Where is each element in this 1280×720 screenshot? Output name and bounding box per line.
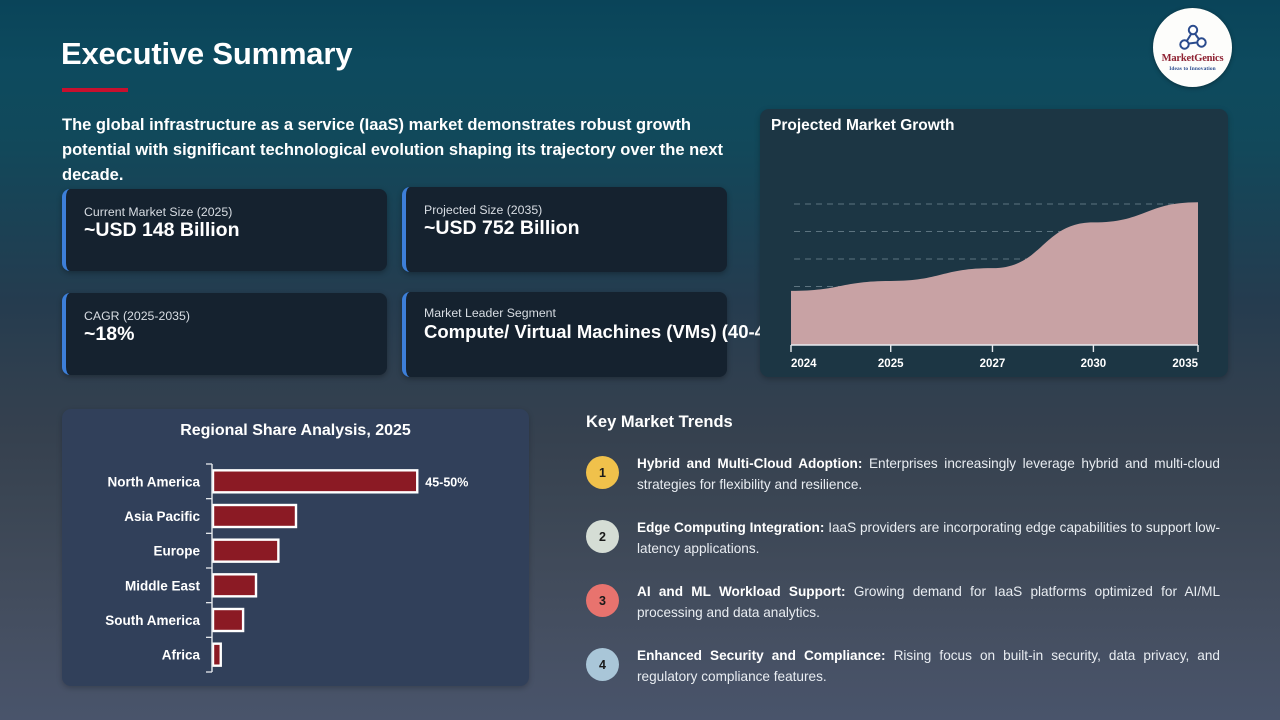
page-title: Executive Summary — [61, 36, 352, 72]
bar — [213, 574, 256, 596]
network-nodes-icon — [1176, 23, 1210, 53]
bar — [213, 470, 417, 492]
trend-number-badge: 3 — [586, 584, 619, 617]
trend-heading: Enhanced Security and Compliance: — [637, 648, 886, 663]
bar — [213, 540, 278, 562]
svg-text:2030: 2030 — [1081, 358, 1107, 370]
svg-text:Africa: Africa — [162, 648, 201, 663]
metric-card-current-market-size: Current Market Size (2025) ~USD 148 Bill… — [62, 189, 387, 271]
bar-chart-regional: North AmericaAsia PacificEuropeMiddle Ea… — [62, 409, 529, 686]
bar — [213, 609, 243, 631]
metric-value: Compute/ Virtual Machines (VMs) (40-45%) — [424, 319, 798, 345]
company-logo: MarketGenics Ideas to Innovation — [1153, 8, 1232, 87]
logo-tagline: Ideas to Innovation — [1169, 67, 1216, 72]
area-series-path — [791, 202, 1198, 345]
trend-item-2: 2 Edge Computing Integration: IaaS provi… — [586, 518, 1220, 559]
svg-text:2027: 2027 — [980, 358, 1006, 370]
svg-text:South America: South America — [105, 613, 200, 628]
trend-heading: Edge Computing Integration: — [637, 520, 824, 535]
trend-text: Edge Computing Integration: IaaS provide… — [637, 518, 1220, 559]
data-labels: 45-50% — [425, 475, 468, 489]
metric-value: ~USD 148 Billion — [84, 217, 240, 243]
trends-section-title: Key Market Trends — [586, 413, 733, 432]
trend-text: AI and ML Workload Support: Growing dema… — [637, 582, 1220, 623]
bar — [213, 644, 221, 666]
x-tick-labels: 20242025202720302035 — [791, 358, 1199, 370]
trend-heading: Hybrid and Multi-Cloud Adoption: — [637, 456, 862, 471]
bar-series — [213, 470, 417, 665]
x-axis — [791, 345, 1198, 352]
trend-heading: AI and ML Workload Support: — [637, 584, 846, 599]
bar — [213, 505, 296, 527]
metric-value: ~18% — [84, 321, 134, 347]
trend-item-3: 3 AI and ML Workload Support: Growing de… — [586, 582, 1220, 623]
trend-text: Enhanced Security and Compliance: Rising… — [637, 646, 1220, 687]
trend-item-1: 1 Hybrid and Multi-Cloud Adoption: Enter… — [586, 454, 1220, 495]
svg-text:2025: 2025 — [878, 358, 904, 370]
projected-market-growth-panel: Projected Market Growth 2024202520272030… — [760, 109, 1228, 377]
trend-item-4: 4 Enhanced Security and Compliance: Risi… — [586, 646, 1220, 687]
svg-text:North America: North America — [107, 474, 200, 489]
svg-text:2024: 2024 — [791, 358, 817, 370]
title-underline-rule — [62, 88, 128, 92]
category-labels: North AmericaAsia PacificEuropeMiddle Ea… — [105, 474, 200, 662]
metric-card-cagr: CAGR (2025-2035) ~18% — [62, 293, 387, 375]
y-axis — [206, 464, 212, 672]
metric-label: Market Leader Segment — [424, 306, 556, 320]
svg-text:2035: 2035 — [1172, 358, 1198, 370]
regional-share-panel: Regional Share Analysis, 2025 North Amer… — [62, 409, 529, 686]
svg-text:Europe: Europe — [153, 544, 200, 559]
logo-company-name: MarketGenics — [1162, 54, 1224, 65]
metric-card-projected-size: Projected Size (2035) ~USD 752 Billion — [402, 187, 727, 272]
area-chart-growth: 20242025202720302035 — [760, 109, 1228, 377]
trend-number-badge: 2 — [586, 520, 619, 553]
svg-text:Asia Pacific: Asia Pacific — [124, 509, 200, 524]
svg-text:45-50%: 45-50% — [425, 475, 468, 489]
trend-number-badge: 4 — [586, 648, 619, 681]
slide-canvas: Executive Summary MarketGenics Ideas to … — [0, 0, 1280, 720]
trend-number-badge: 1 — [586, 456, 619, 489]
metric-value: ~USD 752 Billion — [424, 215, 580, 241]
svg-text:Middle East: Middle East — [125, 578, 201, 593]
metric-card-market-leader-segment: Market Leader Segment Compute/ Virtual M… — [402, 292, 727, 377]
intro-paragraph: The global infrastructure as a service (… — [62, 113, 727, 188]
trend-text: Hybrid and Multi-Cloud Adoption: Enterpr… — [637, 454, 1220, 495]
